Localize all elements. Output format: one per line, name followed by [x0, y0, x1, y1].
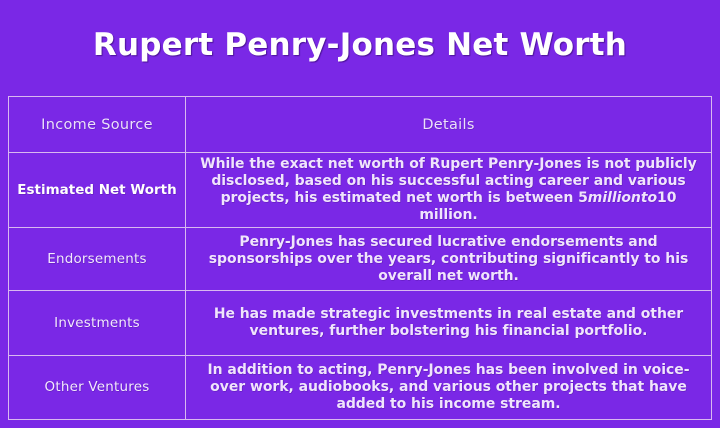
- row-details-endorsements: Penry-Jones has secured lucrative endors…: [186, 228, 712, 291]
- table-header-row: Income Source Details: [9, 97, 712, 153]
- net-worth-infographic: Rupert Penry-Jones Net Worth Income Sour…: [0, 0, 720, 428]
- table-row: Estimated Net Worth While the exact net …: [9, 153, 712, 228]
- row-label-investments: Investments: [9, 291, 186, 356]
- net-worth-table-container: Income Source Details Estimated Net Wort…: [8, 96, 711, 418]
- table-row: Endorsements Penry-Jones has secured luc…: [9, 228, 712, 291]
- row-label-other-ventures: Other Ventures: [9, 356, 186, 420]
- row-details-investments: He has made strategic investments in rea…: [186, 291, 712, 356]
- table-row: Investments He has made strategic invest…: [9, 291, 712, 356]
- row-label-endorsements: Endorsements: [9, 228, 186, 291]
- column-header-income-source: Income Source: [9, 97, 186, 153]
- column-header-details: Details: [186, 97, 712, 153]
- details-math-fragment: millionto: [588, 190, 657, 206]
- table-row: Other Ventures In addition to acting, Pe…: [9, 356, 712, 420]
- row-details-other-ventures: In addition to acting, Penry-Jones has b…: [186, 356, 712, 420]
- net-worth-table: Income Source Details Estimated Net Wort…: [8, 96, 712, 420]
- title-bar: Rupert Penry-Jones Net Worth: [0, 16, 720, 74]
- row-details-estimated-net-worth: While the exact net worth of Rupert Penr…: [186, 153, 712, 228]
- page-title: Rupert Penry-Jones Net Worth: [93, 27, 627, 63]
- row-label-estimated-net-worth: Estimated Net Worth: [9, 153, 186, 228]
